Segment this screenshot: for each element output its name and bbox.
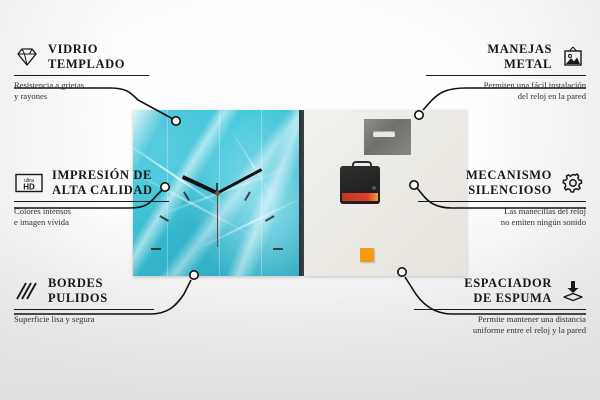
callout-espaciador-espuma[interactable]: ESPACIADORDE ESPUMA Permite mantener una… <box>414 276 586 336</box>
callout-description: Resistencia a grietasy rayones <box>14 80 149 102</box>
infographic-canvas: VIDRIOTEMPLADO Resistencia a grietasy ra… <box>0 0 600 400</box>
ultra-hd-icon: ultra HD <box>14 172 44 194</box>
callout-header: VIDRIOTEMPLADO <box>14 42 149 72</box>
callout-bordes-pulidos[interactable]: BORDESPULIDOS Superficie lisa y segura <box>14 276 154 325</box>
gear-icon <box>560 172 586 194</box>
dial-tick <box>244 191 251 201</box>
callout-title: MANEJASMETAL <box>487 42 552 72</box>
callout-header: ultra HD IMPRESIÓN DEALTA CALIDAD <box>14 168 169 198</box>
hanger-slot <box>373 131 395 137</box>
callout-title: IMPRESIÓN DEALTA CALIDAD <box>52 168 153 198</box>
callout-description: Permite mantener una distanciauniforme e… <box>414 314 586 336</box>
clock-minute-hand <box>216 168 262 194</box>
foam-spacer-icon <box>560 280 586 302</box>
callout-header: ESPACIADORDE ESPUMA <box>414 276 586 306</box>
callout-title: MECANISMOSILENCIOSO <box>466 168 552 198</box>
picture-hanger-icon <box>560 46 586 68</box>
callout-manejas-metal[interactable]: MANEJASMETAL Permiten una fácil instalac… <box>426 42 586 102</box>
callout-header: MANEJASMETAL <box>426 42 586 72</box>
polished-edges-icon <box>14 280 40 302</box>
dial-tick <box>273 248 283 250</box>
mechanism-hang-tab <box>352 161 372 169</box>
callout-rule <box>14 309 154 311</box>
battery-compartment <box>342 193 378 201</box>
clock-mechanism <box>340 166 380 204</box>
dial-tick <box>265 215 275 222</box>
dial-tick <box>183 191 190 201</box>
svg-text:HD: HD <box>23 182 35 191</box>
clock-second-hand <box>217 193 218 247</box>
product-image <box>133 110 467 276</box>
metal-hanger-plate <box>364 119 411 155</box>
callout-mecanismo-silencioso[interactable]: MECANISMOSILENCIOSO Las manecillas del r… <box>418 168 586 228</box>
diamond-icon <box>14 46 40 68</box>
callout-title: BORDESPULIDOS <box>48 276 108 306</box>
callout-description: Superficie lisa y segura <box>14 314 154 325</box>
callout-rule <box>14 75 149 77</box>
callout-title: ESPACIADORDE ESPUMA <box>464 276 552 306</box>
clock-center-cap <box>215 191 220 196</box>
mechanism-knob <box>372 186 376 190</box>
callout-description: Las manecillas del relojno emiten ningún… <box>418 206 586 228</box>
callout-rule <box>418 201 586 203</box>
callout-rule <box>14 201 169 203</box>
callout-rule <box>426 75 586 77</box>
foam-spacer <box>360 248 374 262</box>
callout-vidrio-templado[interactable]: VIDRIOTEMPLADO Resistencia a grietasy ra… <box>14 42 149 102</box>
callout-rule <box>414 309 586 311</box>
callout-description: Permiten una fácil instalacióndel reloj … <box>426 80 586 102</box>
callout-impresion-alta-calidad[interactable]: ultra HD IMPRESIÓN DEALTA CALIDAD Colore… <box>14 168 169 228</box>
callout-header: BORDESPULIDOS <box>14 276 154 306</box>
callout-description: Colores intensose imagen vívida <box>14 206 169 228</box>
clock-hour-hand <box>182 175 218 195</box>
callout-title: VIDRIOTEMPLADO <box>48 42 125 72</box>
callout-header: MECANISMOSILENCIOSO <box>418 168 586 198</box>
dial-tick <box>151 248 161 250</box>
